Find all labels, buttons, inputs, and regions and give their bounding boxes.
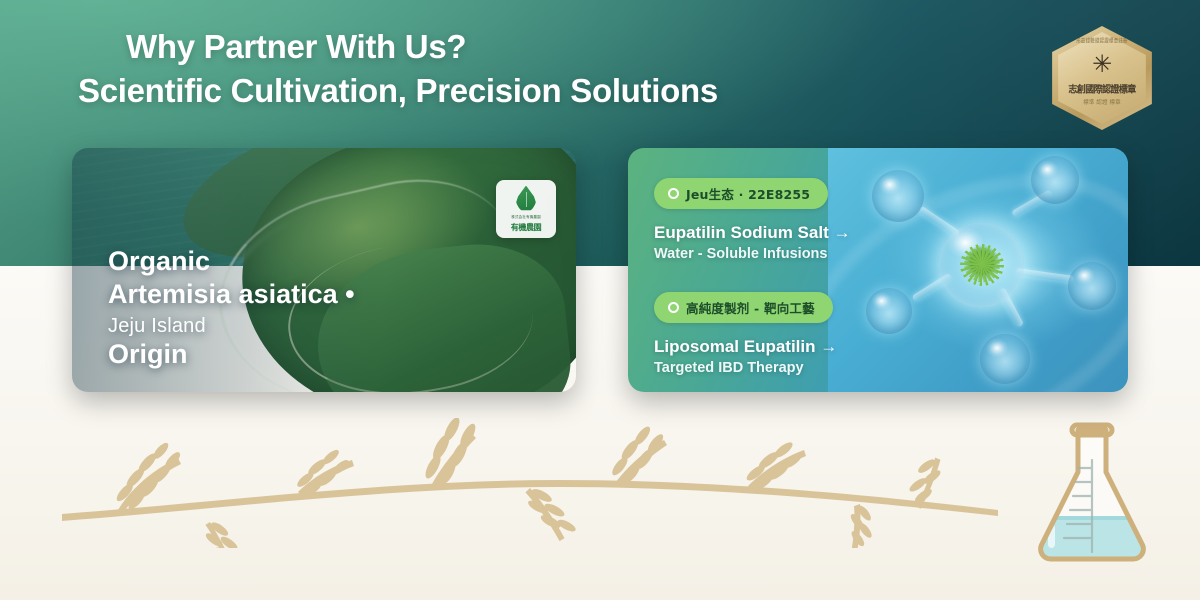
origin-card-text: Organic Artemisia asiatica • Jeju Island… — [108, 246, 355, 370]
product-tag-label: Jeu生态 · 22E8255 — [686, 184, 810, 203]
leaf-droplet-icon — [515, 186, 537, 212]
product-tag-label: 高純度製剂 - 靶向工藝 — [686, 298, 815, 317]
plant-inside-molecule-icon — [954, 236, 1010, 294]
products-list: Jeu生态 · 22E8255 Eupatilin Sodium Salt → … — [654, 178, 850, 376]
badge-arc-text: 形益錢驗錢認證標章註冊 — [1044, 37, 1160, 45]
circle-outline-icon — [668, 188, 679, 199]
product-tag-pill[interactable]: Jeu生态 · 22E8255 — [654, 178, 828, 209]
badge-sub-text: 標準 認證 標章 — [1044, 98, 1160, 106]
certification-badge: 形益錢驗錢認證標章註冊 ✳ 志創國際認證標章 標準 認證 標章 — [1044, 26, 1160, 130]
products-card[interactable]: Jeu生态 · 22E8255 Eupatilin Sodium Salt → … — [628, 148, 1128, 392]
molecule-atom — [866, 288, 912, 334]
origin-line-3: Jeju Island — [108, 315, 355, 338]
origin-line-2: Artemisia asiatica • — [108, 279, 355, 310]
product-tag-pill[interactable]: 高純度製剂 - 靶向工藝 — [654, 292, 833, 323]
molecule-atom — [1068, 262, 1116, 310]
product-entry: Jeu生态 · 22E8255 Eupatilin Sodium Salt → … — [654, 178, 850, 262]
erlenmeyer-flask-icon — [1022, 416, 1162, 578]
logo-sub-text: 株式会社有機農園 — [511, 215, 541, 220]
molecule-graphic — [828, 148, 1128, 392]
botanical-branch-icon — [60, 418, 1000, 548]
page-title: Why Partner With Us? Scientific Cultivat… — [78, 28, 718, 110]
molecule-atom — [872, 170, 924, 222]
circle-outline-icon — [668, 302, 679, 313]
product-title: Eupatilin Sodium Salt → — [654, 223, 850, 243]
origin-card[interactable]: 株式会社有機農園 有機農園 Organic Artemisia asiatica… — [72, 148, 576, 392]
product-title: Liposomal Eupatilin → — [654, 337, 850, 357]
molecule-atom — [980, 334, 1030, 384]
organic-farm-logo: 株式会社有機農園 有機農園 — [496, 180, 556, 238]
badge-main-text: 志創國際認證標章 — [1044, 81, 1160, 95]
origin-line-4: Origin — [108, 339, 355, 370]
headline-line-2: Scientific Cultivation, Precision Soluti… — [78, 72, 718, 111]
product-subtitle: Targeted IBD Therapy — [654, 360, 850, 376]
molecule-atom — [1031, 156, 1079, 204]
logo-main-text: 有機農園 — [511, 222, 541, 233]
origin-line-1: Organic — [108, 246, 355, 277]
product-subtitle: Water - Soluble Infusions — [654, 246, 850, 262]
product-entry: 高純度製剂 - 靶向工藝 Liposomal Eupatilin → Targe… — [654, 292, 850, 376]
headline-line-1: Why Partner With Us? — [78, 28, 718, 67]
badge-emblem-icon: ✳ — [1044, 52, 1160, 76]
